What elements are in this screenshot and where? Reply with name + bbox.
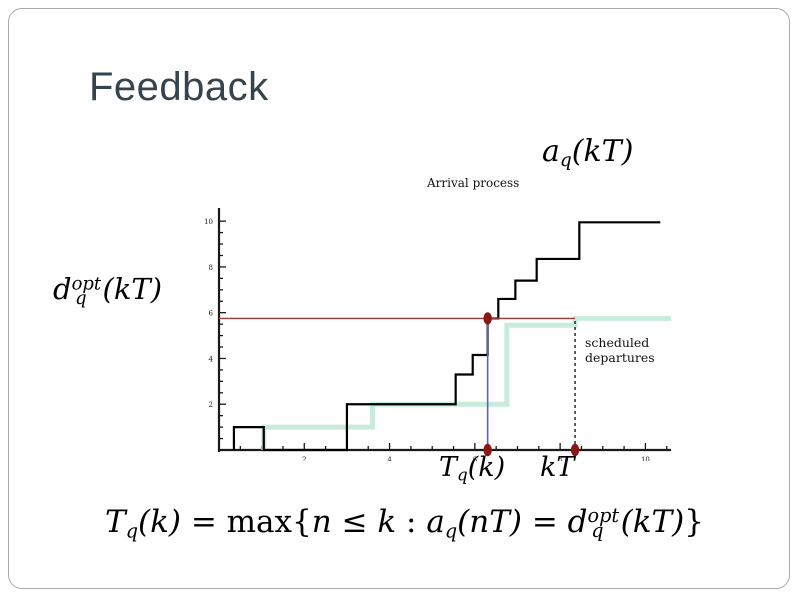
- aq-subscript: q: [560, 150, 572, 171]
- dopt-base: d: [53, 272, 72, 306]
- slide-canvas: Feedback Arrival process aq(kT) doptq(kT…: [8, 8, 790, 589]
- arrival-departure-plot: 246810246810: [205, 197, 675, 461]
- y-tick-label: 8: [209, 264, 213, 272]
- formula-a-base: a: [426, 504, 444, 540]
- annotation-dq-opt-kT: doptq(kT): [53, 275, 162, 308]
- y-tick-label: 2: [209, 401, 213, 409]
- marker-kT-on-axis: [571, 444, 579, 456]
- tq-subscript: q: [457, 465, 468, 485]
- formula-a-args: (nT): [457, 504, 522, 540]
- formula-colon: :: [396, 504, 426, 540]
- formula-d-subscript: q: [591, 519, 603, 542]
- marker-Tq-on-axis: [483, 444, 491, 456]
- y-tick-label: 6: [209, 310, 214, 318]
- x-tick-label: 2: [302, 456, 306, 461]
- aq-base: a: [542, 134, 560, 169]
- formula-lhs-base: T: [105, 504, 126, 540]
- formula-d-base: d: [568, 504, 588, 540]
- y-tick-label: 10: [205, 218, 213, 226]
- dopt-args: (kT): [103, 272, 163, 306]
- aq-args: (kT): [572, 134, 634, 169]
- formula-equals-1: =: [181, 504, 227, 540]
- x-tick-label: 6: [473, 456, 478, 461]
- dopt-subscript: q: [75, 288, 87, 309]
- annotation-arrival-process: Arrival process: [427, 176, 519, 190]
- formula-open-brace: {: [292, 504, 312, 540]
- annotation-aq-kT: aq(kT): [542, 137, 633, 171]
- series-scheduled-departures: [264, 318, 671, 450]
- marker-Tq-on-curve: [483, 312, 491, 324]
- formula-close-brace: }: [684, 504, 704, 540]
- y-tick-label: 4: [209, 355, 214, 363]
- formula-lhs-subscript: q: [126, 519, 138, 542]
- formula-condition: n ≤ k: [312, 504, 396, 540]
- formula-d-args: (kT): [621, 504, 685, 540]
- formula-equals-2: =: [522, 504, 568, 540]
- formula-lhs-args: (k): [138, 504, 181, 540]
- page-title: Feedback: [89, 67, 269, 107]
- plot-svg: 246810246810: [205, 197, 675, 461]
- main-formula: Tq(k) = max{n ≤ k : aq(nT) = doptq(kT)}: [105, 506, 704, 541]
- formula-a-subscript: q: [445, 519, 457, 542]
- series-arrival-process: [234, 222, 660, 450]
- formula-max-operator: max: [227, 504, 292, 540]
- x-tick-label: 10: [641, 456, 650, 461]
- x-tick-label: 8: [558, 456, 562, 461]
- x-tick-label: 4: [387, 456, 392, 461]
